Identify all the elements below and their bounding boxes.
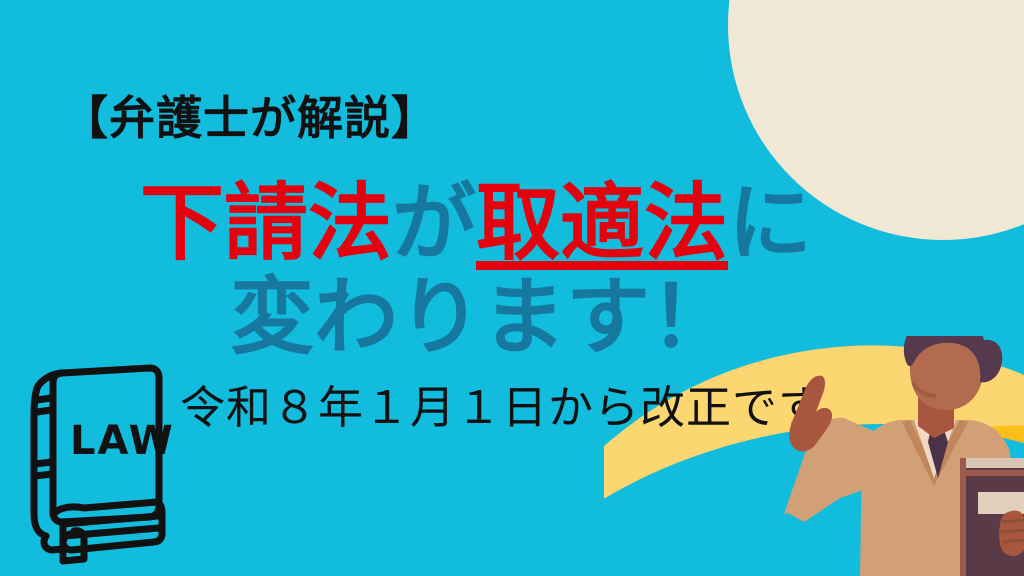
law-book-label: LAW [70,418,175,464]
headline: 下請法が取適法に 変わります！ [140,176,812,364]
law-book-icon: LAW [22,356,190,566]
subtitle-text: 令和８年１月１日から改正です [180,385,824,430]
headline-segment-ga: が [392,174,476,272]
headline-segment-ni: に [728,174,812,272]
thumbnail-canvas: 【弁護士が解説】 下請法が取適法に 変わります！ 令和８年１月１日から改正です [0,0,1024,576]
lawyer-illustration [764,336,1024,576]
headline-segment-kawarimasu: 変わります！ [230,268,734,366]
headline-line-2: 変わります！ [230,270,812,364]
headline-segment-shitaukeho: 下請法 [140,174,392,272]
headline-segment-torichakiho: 取適法 [476,174,728,272]
headline-line-1: 下請法が取適法に [140,176,812,270]
eyebrow-text: 【弁護士が解説】 [62,95,438,141]
